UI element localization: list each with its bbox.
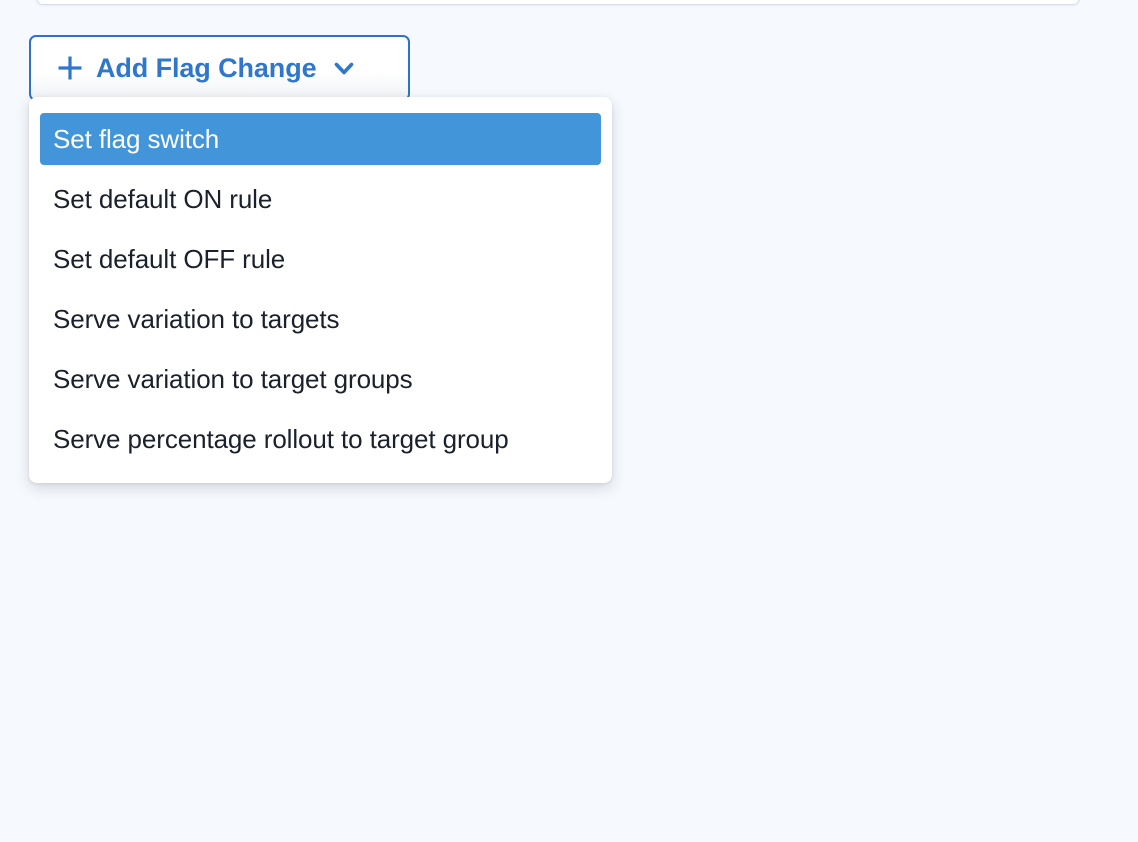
menu-item-label: Set default ON rule	[53, 184, 272, 215]
add-flag-change-button[interactable]: Add Flag Change	[29, 35, 410, 101]
menu-item-serve-variation-to-targets[interactable]: Serve variation to targets	[40, 293, 601, 345]
menu-item-set-default-on-rule[interactable]: Set default ON rule	[40, 173, 601, 225]
menu-item-label: Set flag switch	[53, 124, 219, 155]
plus-icon	[55, 53, 85, 83]
menu-item-label: Serve percentage rollout to target group	[53, 424, 509, 455]
menu-item-label: Set default OFF rule	[53, 244, 285, 275]
menu-item-label: Serve variation to targets	[53, 304, 339, 335]
menu-item-label: Serve variation to target groups	[53, 364, 413, 395]
menu-item-set-default-off-rule[interactable]: Set default OFF rule	[40, 233, 601, 285]
menu-item-serve-variation-to-target-groups[interactable]: Serve variation to target groups	[40, 353, 601, 405]
flag-change-dropdown-menu[interactable]: Set flag switch Set default ON rule Set …	[29, 97, 612, 483]
chevron-down-icon	[331, 55, 357, 81]
menu-item-serve-percentage-rollout-to-target-group[interactable]: Serve percentage rollout to target group	[40, 413, 601, 465]
menu-item-set-flag-switch[interactable]: Set flag switch	[40, 113, 601, 165]
add-flag-change-label: Add Flag Change	[96, 53, 317, 84]
panel-above	[36, 0, 1080, 5]
